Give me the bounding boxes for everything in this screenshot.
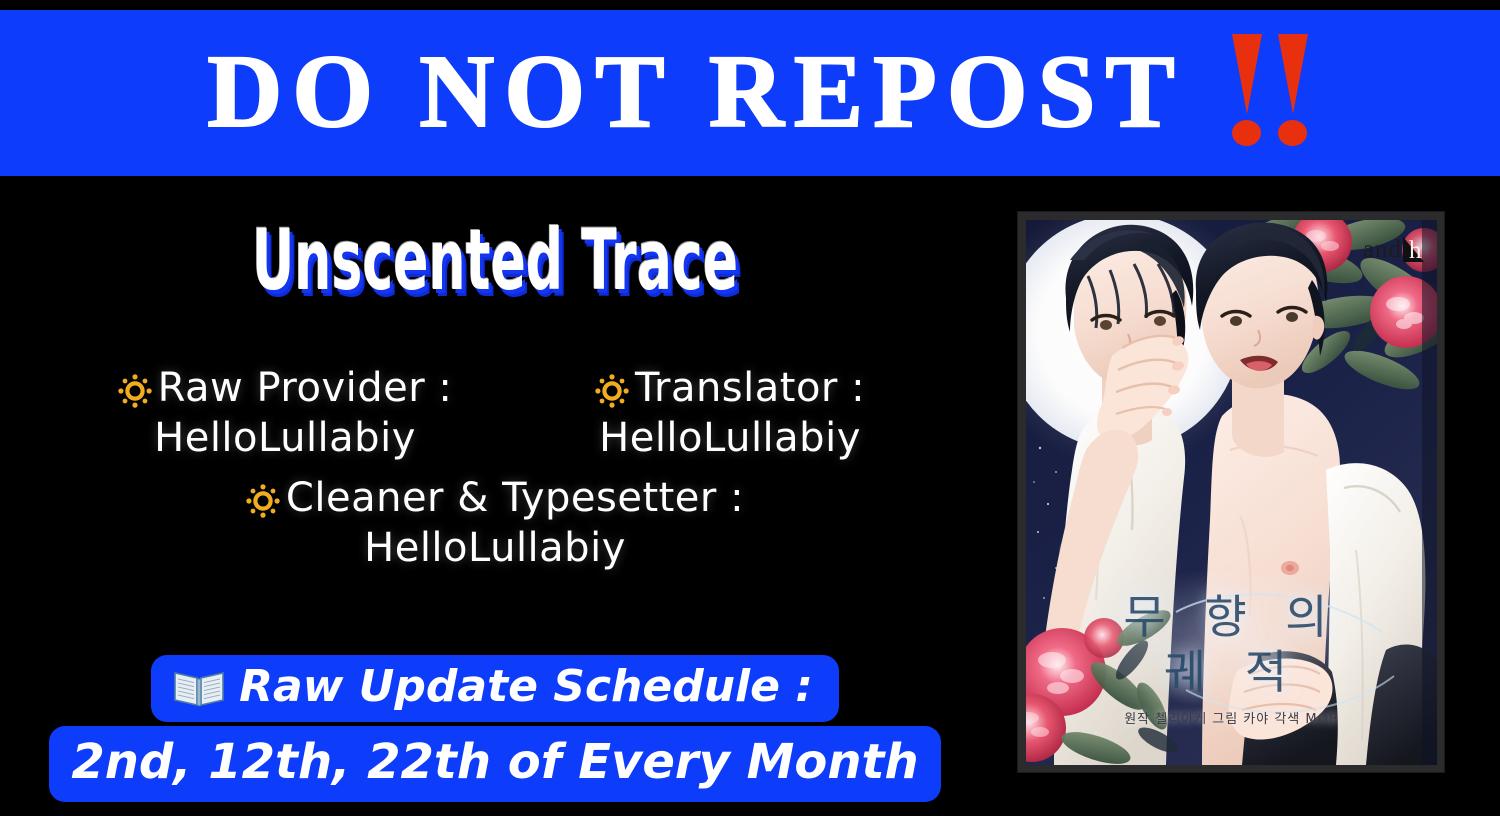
- credit-row: Raw Provider : HelloLullabiy: [0, 366, 990, 466]
- sun-icon: [118, 373, 152, 407]
- sun-icon: [595, 373, 629, 407]
- publisher-logo-mark-icon: h: [1403, 236, 1425, 262]
- credit-heading: Cleaner & Typesetter :: [246, 476, 744, 521]
- credit-role-label: Cleaner & Typesetter :: [286, 476, 744, 521]
- series-title: Unscented Trace: [188, 218, 802, 302]
- credit-heading: Raw Provider :: [50, 366, 520, 411]
- credit-heading: Translator :: [520, 366, 940, 411]
- credit-cleaner-typesetter: Cleaner & Typesetter : HelloLullabiy: [246, 476, 744, 576]
- credit-person-name: HelloLullabiy: [520, 411, 940, 466]
- cover-korean-title: 무 향 의 궤 적: [1026, 590, 1437, 699]
- credit-translator: Translator : HelloLullabiy: [520, 366, 940, 466]
- publisher-logo-text: and: [1363, 237, 1402, 262]
- schedule-days-text: 2nd, 12th, 22th of Every Month: [71, 734, 918, 790]
- credit-row: Cleaner & Typesetter : HelloLullabiy: [0, 476, 990, 576]
- credit-person-name: HelloLullabiy: [246, 521, 744, 576]
- credits-list: Raw Provider : HelloLullabiy: [0, 366, 990, 576]
- cover-korean-title-line1: 무 향 의: [1026, 590, 1437, 644]
- do-not-repost-banner: DO NOT REPOST: [0, 10, 1500, 176]
- publisher-logo-letter: h: [1409, 238, 1423, 263]
- schedule-days-line: 2nd, 12th, 22th of Every Month: [0, 722, 990, 802]
- schedule-heading-line: Raw Update Schedule :: [0, 655, 990, 722]
- credit-person-name: HelloLullabiy: [50, 411, 520, 466]
- cover-art-frame: and h 무 향 의 궤 적 원작 첼리아케 그림 카야 각색 MOB: [1018, 212, 1444, 772]
- credit-raw-provider: Raw Provider : HelloLullabiy: [50, 366, 520, 466]
- double-exclamation-icon: [1231, 34, 1307, 146]
- publisher-logo: and h: [1363, 236, 1425, 262]
- exclamation-mark-icon: [1277, 34, 1307, 146]
- exclamation-mark-icon: [1231, 34, 1261, 146]
- credit-role-label: Translator :: [635, 366, 865, 411]
- warning-text: DO NOT REPOST: [207, 40, 1185, 144]
- promo-page: DO NOT REPOST Unscented Trace: [0, 0, 1500, 816]
- schedule-heading-text: Raw Update Schedule :: [239, 661, 813, 712]
- credit-role-label: Raw Provider :: [158, 366, 453, 411]
- schedule-days-box: 2nd, 12th, 22th of Every Month: [49, 726, 940, 802]
- sun-icon: [246, 483, 280, 517]
- open-book-icon: [173, 667, 225, 707]
- cover-korean-title-line2: 궤 적: [1026, 645, 1437, 699]
- cover-art-image: and h 무 향 의 궤 적 원작 첼리아케 그림 카야 각색 MOB: [1026, 220, 1437, 765]
- schedule-heading-box: Raw Update Schedule :: [151, 655, 839, 722]
- cover-korean-credits: 원작 첼리아케 그림 카야 각색 MOB: [1026, 708, 1437, 727]
- update-schedule: Raw Update Schedule : 2nd, 12th, 22th of…: [0, 655, 990, 802]
- info-column: Unscented Trace: [0, 190, 990, 816]
